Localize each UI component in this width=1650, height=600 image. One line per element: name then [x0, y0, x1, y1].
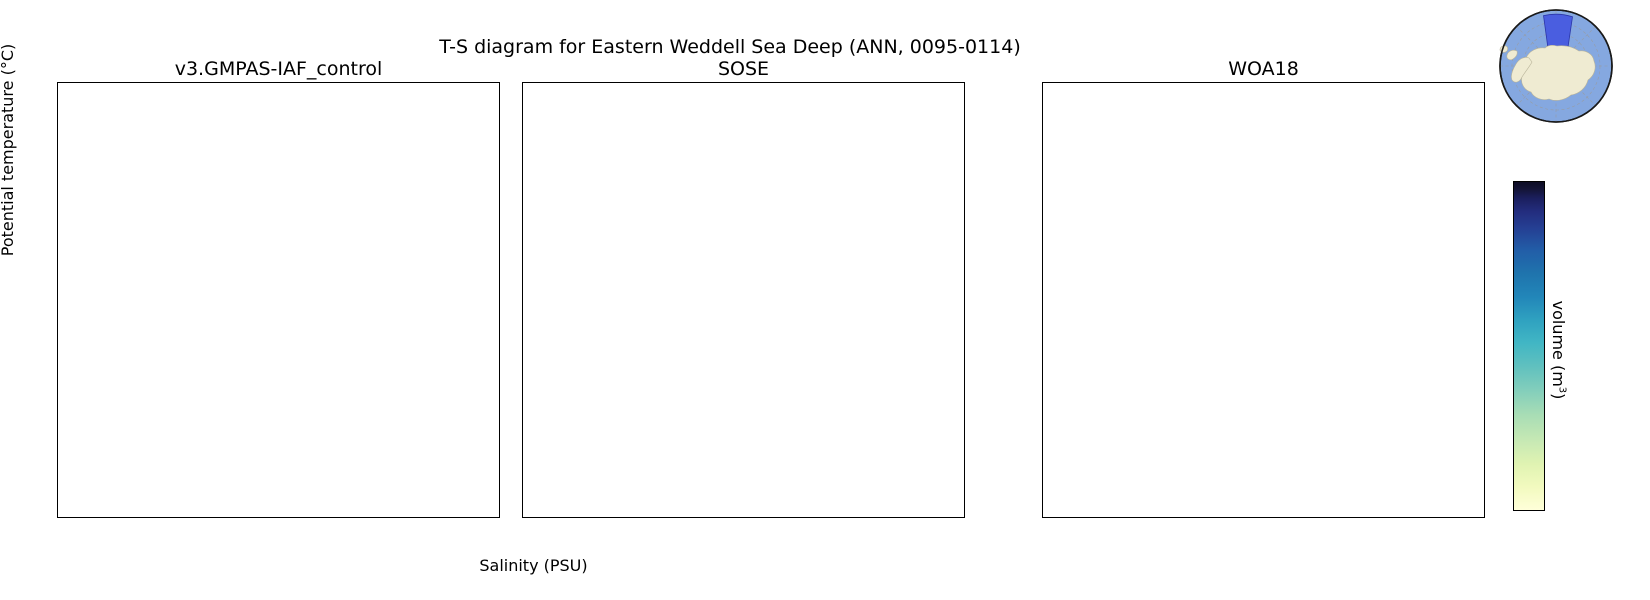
y-axis-label: Potential temperature (°C) [0, 0, 17, 300]
x-axis-label: Salinity (PSU) [57, 556, 1010, 575]
ts-panel-model[interactable] [57, 82, 500, 518]
ts-panel-woa[interactable] [1042, 82, 1485, 518]
panel-title-woa: WOA18 [1042, 56, 1485, 82]
panel-title-model: v3.GMPAS-IAF_control [57, 56, 500, 82]
panel-title-sose: SOSE [522, 56, 965, 82]
ts-panel-sose[interactable] [522, 82, 965, 518]
antarctic-locator-map[interactable] [1476, 6, 1636, 124]
colorbar-gradient [1513, 181, 1545, 511]
colorbar-label: volume (m3) [1549, 200, 1568, 500]
colorbar[interactable] [1513, 181, 1545, 511]
suptitle-line-1: T-S diagram for Eastern Weddell Sea Deep… [439, 36, 1020, 58]
colorbar-label-text: volume (m [1549, 301, 1568, 387]
highlighted-region [1544, 14, 1573, 50]
figure-root: T-S diagram for Eastern Weddell Sea Deep… [0, 0, 1650, 600]
ts-density-canvas [58, 83, 500, 518]
colorbar-label-close: ) [1549, 393, 1568, 399]
